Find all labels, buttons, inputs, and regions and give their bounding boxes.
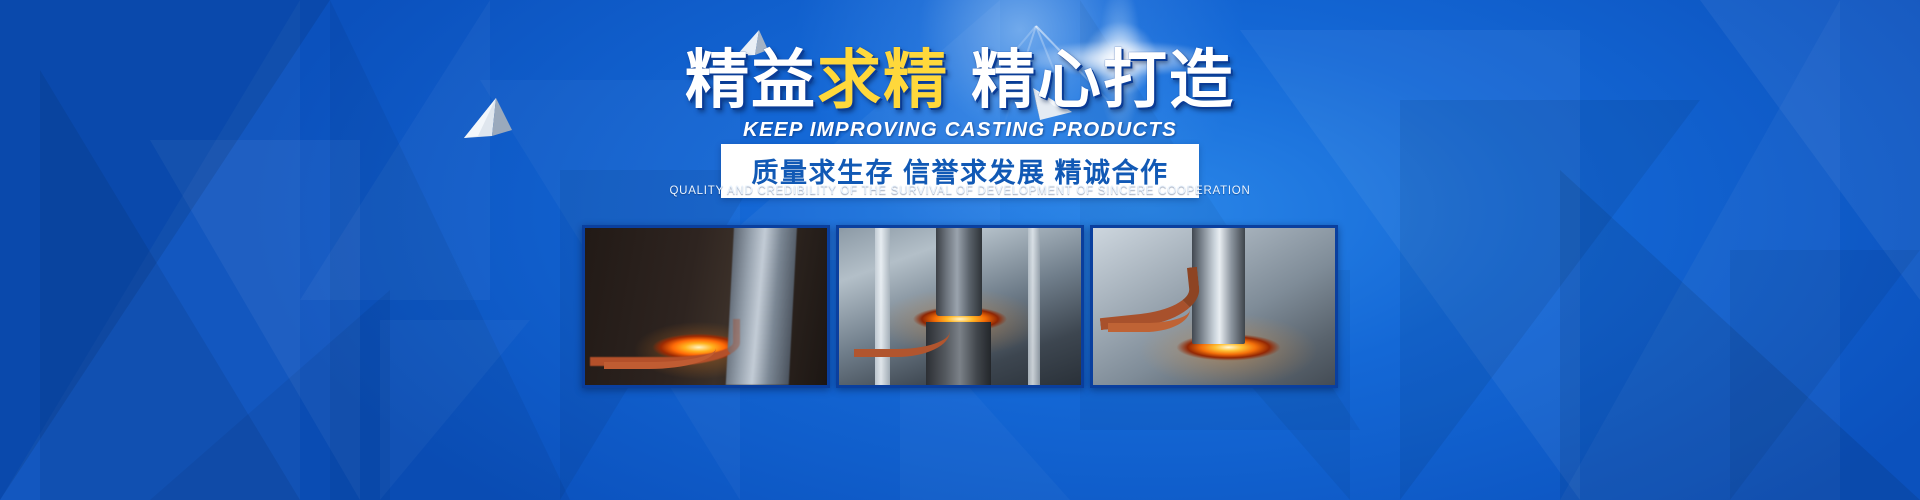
headline-part-3: 精心打造 [971, 44, 1235, 116]
photo-induction-heating-chrome-cylinder[interactable] [1090, 225, 1338, 388]
slogan-english: QUALITY AND CREDIBILITY OF THE SURVIVAL … [0, 185, 1920, 197]
subtitle-english: KEEP IMPROVING CASTING PRODUCTS [0, 118, 1920, 142]
slogan-chinese: 质量求生存 信誉求发展 精诚合作 [751, 158, 1168, 188]
promotional-banner: 精益求精精心打造 KEEP IMPROVING CASTING PRODUCTS… [0, 0, 1920, 500]
photo-induction-heating-coil-ring[interactable] [582, 225, 830, 388]
headline-part-1: 精益 [685, 44, 817, 116]
photo-strip [0, 225, 1920, 388]
photo-induction-hardening-vertical-shaft[interactable] [836, 225, 1084, 388]
headline-part-2: 求精 [817, 44, 949, 116]
page-title: 精益求精精心打造 [0, 48, 1920, 112]
